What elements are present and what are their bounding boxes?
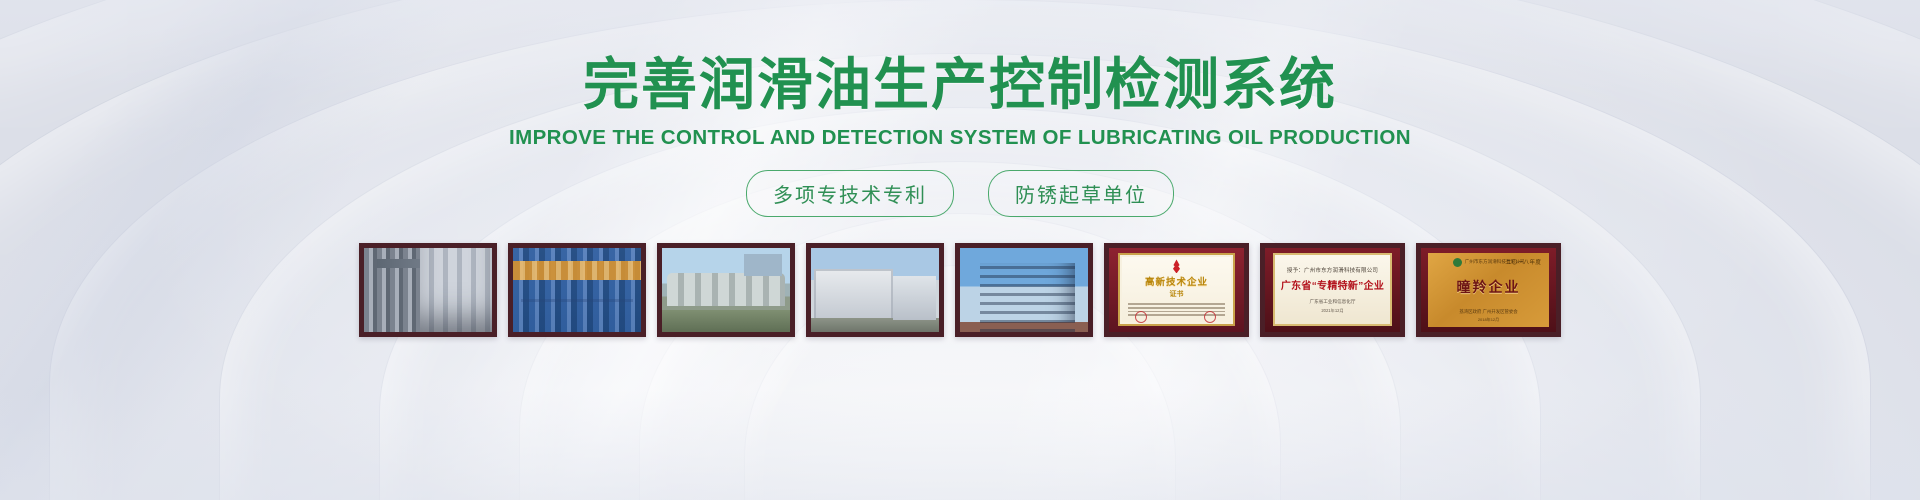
thumbnail-high-tech-enterprise-certificate[interactable]: 高新技术企业 证书 bbox=[1104, 243, 1249, 337]
hero-banner: 完善润滑油生产控制检测系统 IMPROVE THE CONTROL AND DE… bbox=[0, 0, 1920, 500]
gold-plaque-date: 2018年12月 bbox=[1478, 317, 1499, 323]
feature-pill-standard-drafter[interactable]: 防锈起草单位 bbox=[988, 170, 1174, 217]
certificate-title: 高新技术企业 bbox=[1145, 274, 1208, 288]
thumbnail-factory-exterior-photo[interactable] bbox=[806, 243, 944, 337]
thumbnail-office-building-photo[interactable] bbox=[955, 243, 1093, 337]
production-line-image bbox=[364, 248, 492, 332]
gold-plaque-title: 曈羚企业 bbox=[1457, 277, 1521, 297]
thumbnail-honor-enterprise-gold-plaque[interactable]: 广州市东方润滑科技有限公司 二〇一八年度 曈羚企业 荔湾区政府 广州开发区管委会… bbox=[1416, 243, 1561, 337]
certificate-subtitle: 证书 bbox=[1170, 289, 1184, 299]
feature-pill-row: 多项专技术专利 防锈起草单位 bbox=[746, 170, 1174, 217]
gold-plaque-face: 广州市东方润滑科技有限公司 二〇一八年度 曈羚企业 荔湾区政府 广州开发区管委会… bbox=[1428, 253, 1550, 327]
thumbnail-blue-piping-rig-photo[interactable] bbox=[508, 243, 646, 337]
gold-plaque-year: 二〇一八年度 bbox=[1506, 258, 1541, 266]
banner-content: 完善润滑油生产控制检测系统 IMPROVE THE CONTROL AND DE… bbox=[0, 0, 1920, 500]
flame-icon bbox=[1171, 259, 1182, 273]
plaque-issuer: 广东省工业和信息化厅 bbox=[1310, 299, 1356, 305]
certificate-paper: 高新技术企业 证书 bbox=[1118, 253, 1234, 325]
gold-plaque-issuer: 荔湾区政府 广州开发区管委会 bbox=[1459, 309, 1517, 315]
plaque-date: 2021年12月 bbox=[1321, 308, 1343, 314]
factory-exterior-image bbox=[811, 248, 939, 332]
feature-pill-patents[interactable]: 多项专技术专利 bbox=[746, 170, 954, 217]
thumbnail-storage-tanks-photo[interactable] bbox=[657, 243, 795, 337]
red-seal-secondary-icon bbox=[1204, 311, 1216, 323]
plaque-paper: 授予：广州市东方润滑科技有限公司 广东省“专精特新”企业 广东省工业和信息化厅 … bbox=[1273, 253, 1392, 325]
thumbnail-strip: 高新技术企业 证书 授予：广州市东方润滑科技有限公司 广东省“专精特新”企业 广… bbox=[359, 243, 1561, 337]
office-building-image bbox=[960, 248, 1088, 332]
emblem-icon bbox=[1453, 258, 1462, 267]
page-subtitle: IMPROVE THE CONTROL AND DETECTION SYSTEM… bbox=[509, 126, 1411, 150]
plaque-award-line: 授予：广州市东方润滑科技有限公司 bbox=[1287, 266, 1378, 274]
storage-tanks-image bbox=[662, 248, 790, 332]
red-seal-icon bbox=[1135, 311, 1147, 323]
blue-piping-rig-image bbox=[513, 248, 641, 332]
page-title: 完善润滑油生产控制检测系统 bbox=[583, 54, 1337, 116]
thumbnail-guangdong-specialized-new-enterprise-plaque[interactable]: 授予：广州市东方润滑科技有限公司 广东省“专精特新”企业 广东省工业和信息化厅 … bbox=[1260, 243, 1405, 337]
thumbnail-production-line-photo[interactable] bbox=[359, 243, 497, 337]
plaque-title: 广东省“专精特新”企业 bbox=[1281, 277, 1384, 292]
